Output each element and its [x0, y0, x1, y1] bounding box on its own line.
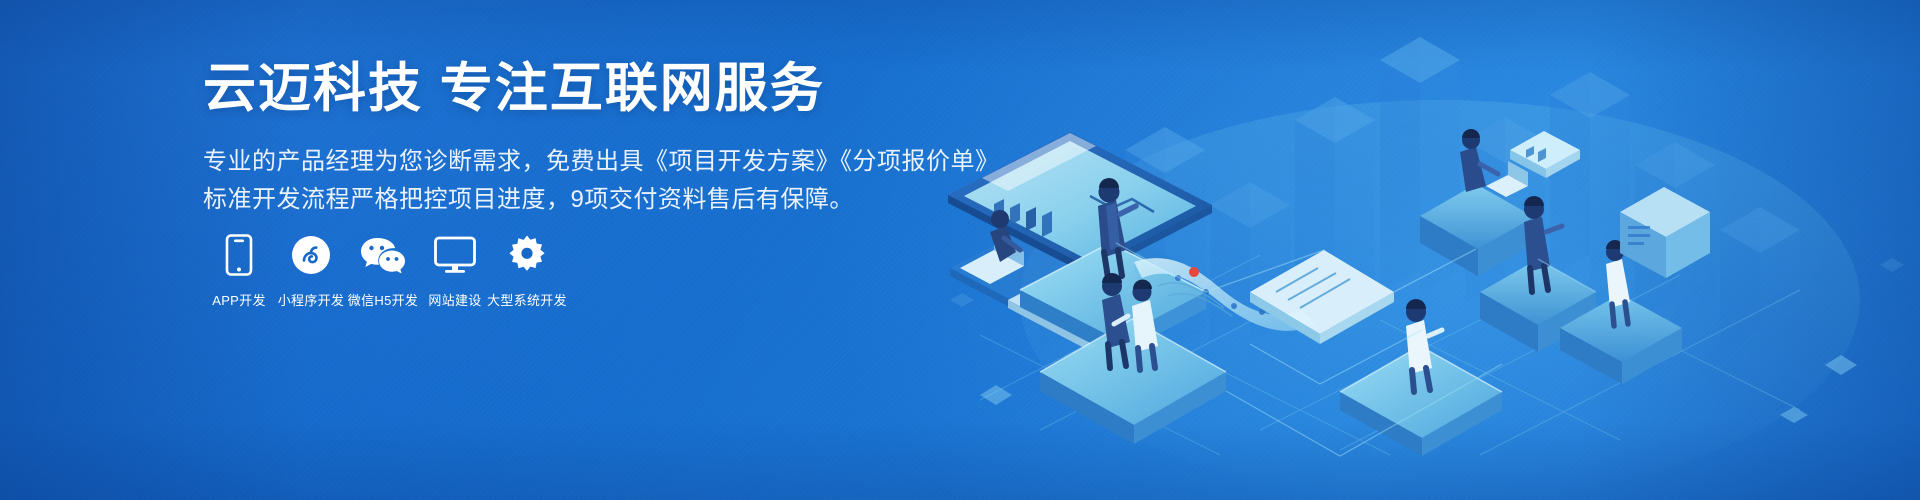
- hero-copy: 云迈科技 专注互联网服务 专业的产品经理为您诊断需求，免费出具《项目开发方案》《…: [203, 62, 1000, 219]
- service-label: APP开发: [212, 290, 266, 309]
- service-item-miniprogram[interactable]: 小程序开发: [275, 232, 347, 309]
- service-item-wechat-h5[interactable]: 微信H5开发: [347, 232, 419, 309]
- gear-icon: [507, 232, 547, 278]
- service-label: 网站建设: [428, 290, 481, 309]
- service-item-large-system[interactable]: 大型系统开发: [491, 232, 563, 309]
- hero-banner: 云迈科技 专注互联网服务 专业的产品经理为您诊断需求，免费出具《项目开发方案》《…: [0, 0, 1920, 500]
- wechat-icon: [359, 232, 407, 278]
- service-list: APP开发 小程序开发: [203, 232, 563, 309]
- isometric-tech-team-illustration: [920, 0, 1920, 500]
- service-label: 微信H5开发: [348, 290, 418, 309]
- smartphone-icon: [225, 232, 253, 278]
- service-item-website[interactable]: 网站建设: [419, 232, 491, 309]
- subtitle-line-2: 标准开发流程严格把控项目进度，9项交付资料售后有保障。: [203, 181, 1000, 219]
- mini-program-icon: [291, 232, 331, 278]
- monitor-icon: [434, 232, 476, 278]
- service-label: 小程序开发: [278, 290, 345, 309]
- service-item-app[interactable]: APP开发: [203, 232, 275, 309]
- subtitle-line-1: 专业的产品经理为您诊断需求，免费出具《项目开发方案》《分项报价单》: [203, 143, 1000, 181]
- service-label: 大型系统开发: [487, 290, 567, 309]
- page-title: 云迈科技 专注互联网服务: [203, 62, 1000, 115]
- hero-subtitle: 专业的产品经理为您诊断需求，免费出具《项目开发方案》《分项报价单》 标准开发流程…: [203, 143, 1000, 219]
